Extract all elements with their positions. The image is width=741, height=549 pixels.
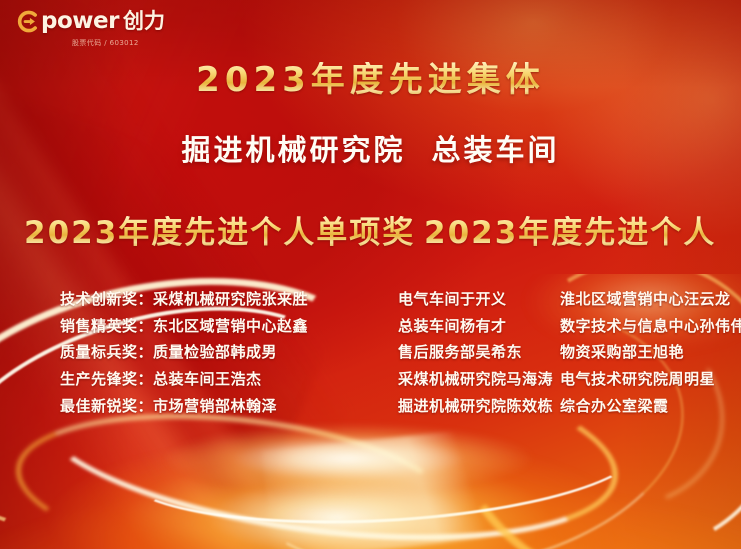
list-item: 技术创新奖：采煤机械研究院张来胜 (60, 286, 390, 313)
list-item: 最佳新锐奖：市场营销部林翰泽 (60, 393, 390, 420)
brand-logo-row: power 创力 (16, 10, 165, 33)
brand-logo: power 创力 股票代码 / 603012 (16, 10, 165, 48)
individual-name-right: 综合办公室梁霞 (560, 393, 669, 420)
individual-name-left: 电气车间于开义 (398, 286, 560, 313)
heading-single-awards: 2023年度先进个人单项奖 (0, 216, 416, 250)
c-arrow-logo-icon (16, 10, 39, 33)
table-row: 掘进机械研究院陈效栋 综合办公室梁霞 (398, 393, 741, 420)
collective-name-2: 总装车间 (432, 133, 560, 167)
individual-name-left: 总装车间杨有才 (398, 313, 560, 340)
brand-wordmark-cn: 创力 (123, 11, 165, 32)
table-row: 售后服务部吴希东 物资采购部王旭艳 (398, 339, 741, 366)
list-item: 质量标兵奖：质量检验部韩成男 (60, 339, 390, 366)
list-item: 销售精英奖：东北区域营销中心赵鑫 (60, 313, 390, 340)
single-award-list: 技术创新奖：采煤机械研究院张来胜 销售精英奖：东北区域营销中心赵鑫 质量标兵奖：… (0, 286, 390, 419)
table-row: 采煤机械研究院马海涛 电气技术研究院周明星 (398, 366, 741, 393)
collective-names: 掘进机械研究院总装车间 (0, 134, 741, 167)
individual-name-right: 电气技术研究院周明星 (560, 366, 715, 393)
brand-stock-code: 股票代码 / 603012 (72, 38, 139, 48)
table-row: 电气车间于开义 淮北区域营销中心汪云龙 (398, 286, 741, 313)
individual-name-right: 数字技术与信息中心孙伟伟 (560, 313, 741, 340)
individual-list: 电气车间于开义 淮北区域营销中心汪云龙 总装车间杨有才 数字技术与信息中心孙伟伟… (390, 286, 741, 419)
award-lists: 技术创新奖：采煤机械研究院张来胜 销售精英奖：东北区域营销中心赵鑫 质量标兵奖：… (0, 286, 741, 419)
heading-individuals: 2023年度先进个人 (416, 216, 741, 250)
brand-wordmark: power (41, 10, 119, 33)
individual-name-left: 售后服务部吴希东 (398, 339, 560, 366)
page-title: 2023年度先进集体 (0, 62, 741, 99)
individual-name-right: 物资采购部王旭艳 (560, 339, 684, 366)
individual-name-right: 淮北区域营销中心汪云龙 (560, 286, 731, 313)
section-headings: 2023年度先进个人单项奖 2023年度先进个人 (0, 216, 741, 250)
individual-name-left: 采煤机械研究院马海涛 (398, 366, 560, 393)
award-poster: power 创力 股票代码 / 603012 2023年度先进集体 掘进机械研究… (0, 0, 741, 549)
table-row: 总装车间杨有才 数字技术与信息中心孙伟伟 (398, 313, 741, 340)
list-item: 生产先锋奖：总装车间王浩杰 (60, 366, 390, 393)
individual-name-left: 掘进机械研究院陈效栋 (398, 393, 560, 420)
collective-name-1: 掘进机械研究院 (181, 133, 405, 167)
